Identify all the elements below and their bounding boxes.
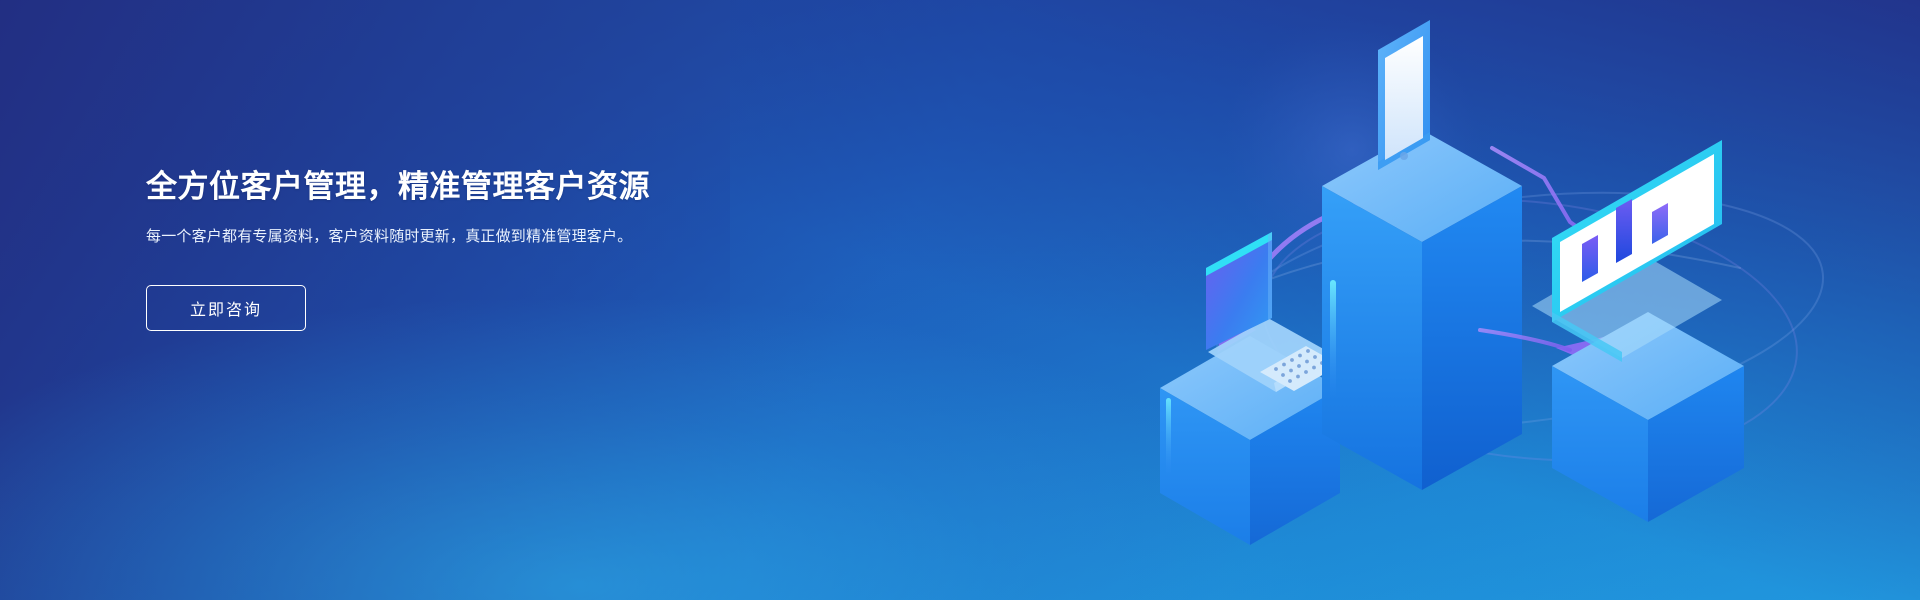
hero-banner: 全方位客户管理，精准管理客户资源 每一个客户都有专属资料，客户资料随时更新，真正… (0, 0, 1920, 600)
tablet-home-button (1400, 152, 1408, 160)
pedestal-laptop-group (1160, 232, 1340, 545)
hero-copy: 全方位客户管理，精准管理客户资源 每一个客户都有专属资料，客户资料随时更新，真正… (146, 168, 786, 331)
monitor-chart-icon (1532, 140, 1722, 362)
consult-now-button[interactable]: 立即咨询 (146, 285, 306, 331)
pedestal-left-edge-glow (1166, 398, 1171, 476)
hero-subtitle: 每一个客户都有专属资料，客户资料随时更新，真正做到精准管理客户。 (146, 225, 726, 249)
pillar-center (1322, 130, 1522, 490)
pedestal-monitor-group (1532, 140, 1744, 522)
pillar-edge-glow (1330, 280, 1336, 398)
page-title: 全方位客户管理，精准管理客户资源 (146, 168, 786, 205)
hero-illustration (1100, 0, 1920, 600)
